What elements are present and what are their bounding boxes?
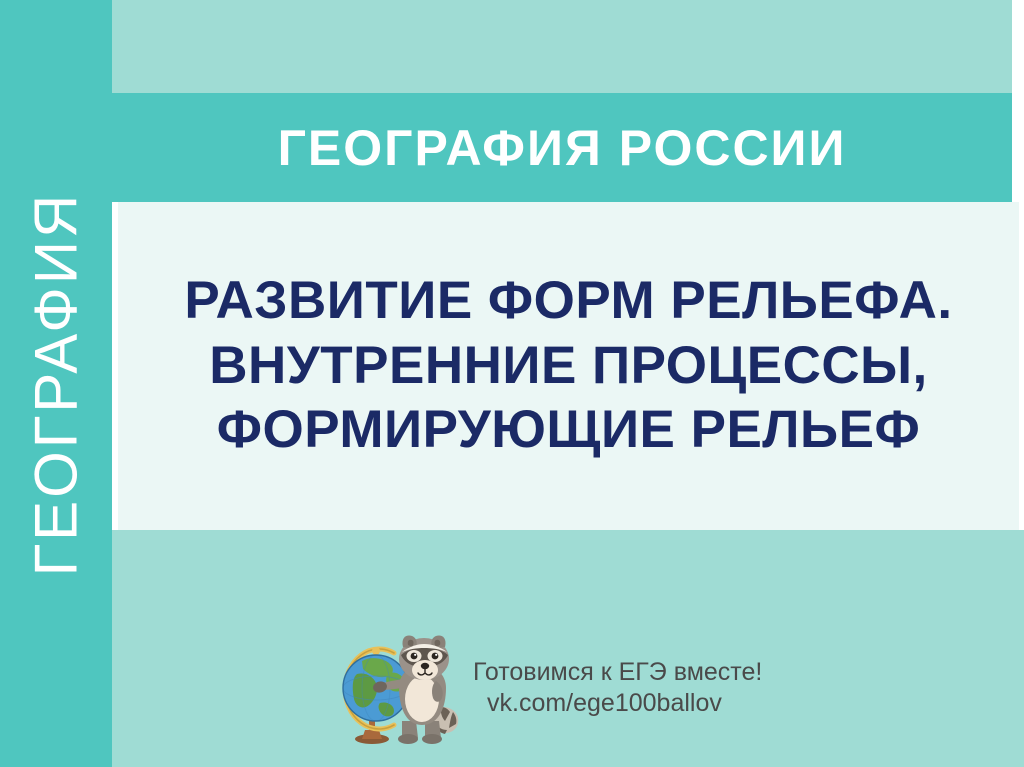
content-title-line-2: ВНУТРЕННИЕ ПРОЦЕССЫ,	[209, 334, 928, 399]
footer-logo: Готовимся к ЕГЭ вместе! vk.com/ege100bal…	[332, 628, 752, 748]
content-panel: РАЗВИТИЕ ФОРМ РЕЛЬЕФА. ВНУТРЕННИЕ ПРОЦЕС…	[118, 202, 1019, 530]
header-title: ГЕОГРАФИЯ РОССИИ	[278, 119, 847, 177]
footer-tagline: Готовимся к ЕГЭ вместе!	[473, 657, 762, 688]
sidebar: ГЕОГРАФИЯ	[0, 0, 112, 767]
sidebar-subject-label: ГЕОГРАФИЯ	[22, 191, 91, 576]
header-band: ГЕОГРАФИЯ РОССИИ	[112, 93, 1012, 202]
slide-root: ГЕОГРАФИЯ ГЕОГРАФИЯ РОССИИ РАЗВИТИЕ ФОРМ…	[0, 0, 1024, 767]
raccoon-with-globe-icon	[332, 629, 467, 747]
footer-text-block: Готовимся к ЕГЭ вместе! vk.com/ege100bal…	[473, 657, 762, 720]
top-decorative-block	[112, 0, 1012, 93]
footer-vk-link[interactable]: vk.com/ege100ballov	[473, 688, 762, 719]
content-title-line-1: РАЗВИТИЕ ФОРМ РЕЛЬЕФА.	[184, 269, 952, 334]
content-title-line-3: ФОРМИРУЮЩИЕ РЕЛЬЕФ	[217, 398, 920, 463]
